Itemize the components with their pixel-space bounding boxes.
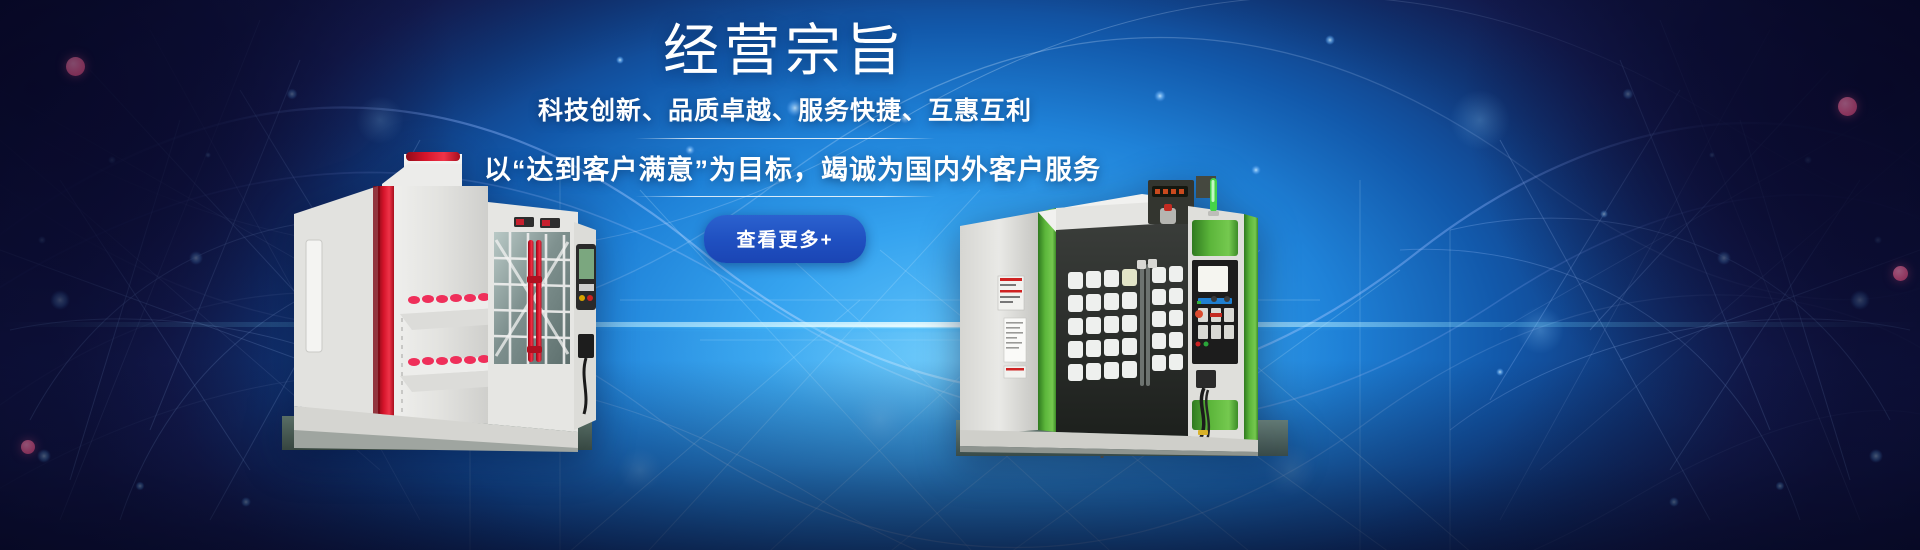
banner-text-block: 经营宗旨 科技创新、品质卓越、服务快捷、互惠互利 以“达到客户满意”为目标，竭诚… <box>484 22 1086 263</box>
divider-bottom <box>635 196 935 197</box>
view-more-button[interactable]: 查看更多+ <box>704 215 865 263</box>
banner-tagline: 以“达到客户满意”为目标，竭诚为国内外客户服务 <box>484 148 1086 187</box>
page-title: 经营宗旨 <box>484 22 1086 80</box>
banner-stage: 经营宗旨 科技创新、品质卓越、服务快捷、互惠互利 以“达到客户满意”为目标，竭诚… <box>0 0 1920 550</box>
banner-subtitle: 科技创新、品质卓越、服务快捷、互惠互利 <box>484 91 1086 127</box>
divider-top <box>635 138 935 139</box>
